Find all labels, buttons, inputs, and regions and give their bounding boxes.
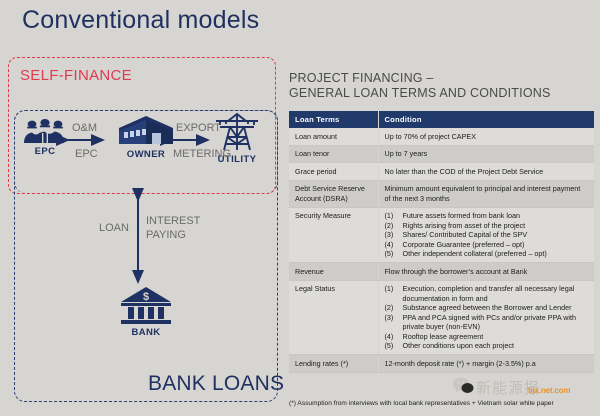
cell-condition: (1)Future assets formed from bank loan (… — [378, 207, 594, 263]
legal-status-list: (1)Execution, completion and transfer al… — [385, 284, 589, 351]
item-text: Corporate Guarantee (preferred – opt) — [403, 240, 525, 250]
bank-building-icon: $ — [119, 285, 173, 325]
item-text: Other conditions upon each project — [403, 341, 514, 351]
cell-term: Revenue — [289, 263, 378, 281]
table-row: Debt Service Reserve Account (DSRA) Mini… — [289, 180, 594, 207]
item-text: Other independent collateral (preferred … — [403, 249, 547, 259]
table-footnote: (*) Assumption from interviews with loca… — [289, 400, 554, 407]
loan-terms-table: Loan Terms Condition Loan amount Up to 7… — [289, 111, 594, 373]
item-text: PPA and PCA signed with PCs and/or priva… — [403, 313, 589, 332]
table-row: Loan tenor Up to 7 years — [289, 145, 594, 163]
bank-loans-label: BANK LOANS — [148, 372, 284, 396]
panel-heading: PROJECT FINANCING – GENERAL LOAN TERMS A… — [289, 71, 551, 101]
item-text: Execution, completion and transfer all n… — [403, 284, 589, 303]
item-number: (1) — [385, 211, 399, 221]
item-number: (5) — [385, 249, 399, 259]
list-item: (3)Shares/ Contributed Capital of the SP… — [385, 230, 589, 240]
panel-heading-line2: GENERAL LOAN TERMS AND CONDITIONS — [289, 86, 551, 100]
list-item: (5)Other independent collateral (preferr… — [385, 249, 589, 259]
cell-term: Loan amount — [289, 128, 378, 145]
item-number: (3) — [385, 230, 399, 240]
warehouse-building-icon — [115, 113, 177, 147]
edge-label-om: O&M — [72, 122, 97, 134]
list-item: (4)Corporate Guarantee (preferred – opt) — [385, 240, 589, 250]
item-text: Shares/ Contributed Capital of the SPV — [403, 230, 528, 240]
cell-condition: (1)Execution, completion and transfer al… — [378, 280, 594, 355]
item-number: (1) — [385, 284, 399, 303]
edge-label-interest-line2: PAYING — [146, 229, 186, 241]
item-number: (2) — [385, 221, 399, 231]
watermark-chinese-text: 新能源报 — [476, 377, 540, 398]
panel-heading-line1: PROJECT FINANCING – — [289, 71, 434, 85]
list-item: (2)Substance agreed between the Borrower… — [385, 303, 589, 313]
watermark-url: bjx.net.com — [528, 386, 570, 395]
table-row: Revenue Flow through the borrower’s acco… — [289, 263, 594, 281]
cell-term: Legal Status — [289, 280, 378, 355]
cell-term: Lending rates (*) — [289, 355, 378, 373]
list-item: (2)Rights arising from asset of the proj… — [385, 221, 589, 231]
cell-condition: 12-month deposit rate (*) + margin (2-3.… — [378, 355, 594, 373]
cell-condition: Flow through the borrower’s account at B… — [378, 263, 594, 281]
table-header-row: Loan Terms Condition — [289, 111, 594, 128]
edge-label-export: EXPORT — [176, 122, 221, 134]
cell-term: Loan tenor — [289, 145, 378, 163]
cell-condition: Up to 7 years — [378, 145, 594, 163]
item-text: Substance agreed between the Borrower an… — [403, 303, 572, 313]
item-text: Rights arising from asset of the project — [403, 221, 526, 231]
list-item: (1)Future assets formed from bank loan — [385, 211, 589, 221]
cell-term: Grace period — [289, 163, 378, 181]
node-caption-bank: BANK — [110, 327, 182, 338]
edge-label-metering: METERING — [173, 148, 231, 160]
table-row: Legal Status (1)Execution, completion an… — [289, 280, 594, 355]
cell-condition: No later than the COD of the Project Deb… — [378, 163, 594, 181]
security-measure-list: (1)Future assets formed from bank loan (… — [385, 211, 589, 259]
slide-canvas: Conventional models SELF-FINANCE BANK LO… — [0, 0, 600, 416]
table-row: Lending rates (*) 12-month deposit rate … — [289, 355, 594, 373]
list-item: (4)Rooftop lease agreement — [385, 332, 589, 342]
edge-label-epc: EPC — [75, 148, 98, 160]
cell-condition: Up to 70% of project CAPEX — [378, 128, 594, 145]
item-number: (4) — [385, 332, 399, 342]
workers-group-icon — [23, 118, 67, 144]
cell-term: Security Measure — [289, 207, 378, 263]
node-bank: $ BANK — [110, 285, 182, 338]
self-finance-label: SELF-FINANCE — [20, 67, 132, 84]
list-item: (3)PPA and PCA signed with PCs and/or pr… — [385, 313, 589, 332]
table-row: Security Measure (1)Future assets formed… — [289, 207, 594, 263]
item-text: Future assets formed from bank loan — [403, 211, 520, 221]
edge-label-loan: LOAN — [99, 222, 129, 234]
cell-condition: Minimum amount equivalent to principal a… — [378, 180, 594, 207]
edge-label-interest-paying: INTEREST PAYING — [146, 214, 200, 242]
node-epc: EPC — [14, 118, 76, 157]
svg-text:$: $ — [143, 291, 149, 303]
node-caption-epc: EPC — [14, 146, 76, 157]
column-header-loan-terms: Loan Terms — [289, 111, 378, 128]
item-number: (4) — [385, 240, 399, 250]
item-number: (3) — [385, 313, 399, 332]
item-number: (5) — [385, 341, 399, 351]
edge-label-interest-line1: INTEREST — [146, 215, 200, 227]
table-row: Grace period No later than the COD of th… — [289, 163, 594, 181]
column-header-condition: Condition — [378, 111, 594, 128]
cell-term: Debt Service Reserve Account (DSRA) — [289, 180, 378, 207]
table-row: Loan amount Up to 70% of project CAPEX — [289, 128, 594, 145]
list-item: (5)Other conditions upon each project — [385, 341, 589, 351]
item-text: Rooftop lease agreement — [403, 332, 484, 342]
wechat-logo-icon — [452, 377, 474, 395]
item-number: (2) — [385, 303, 399, 313]
page-title: Conventional models — [22, 6, 259, 35]
list-item: (1)Execution, completion and transfer al… — [385, 284, 589, 303]
